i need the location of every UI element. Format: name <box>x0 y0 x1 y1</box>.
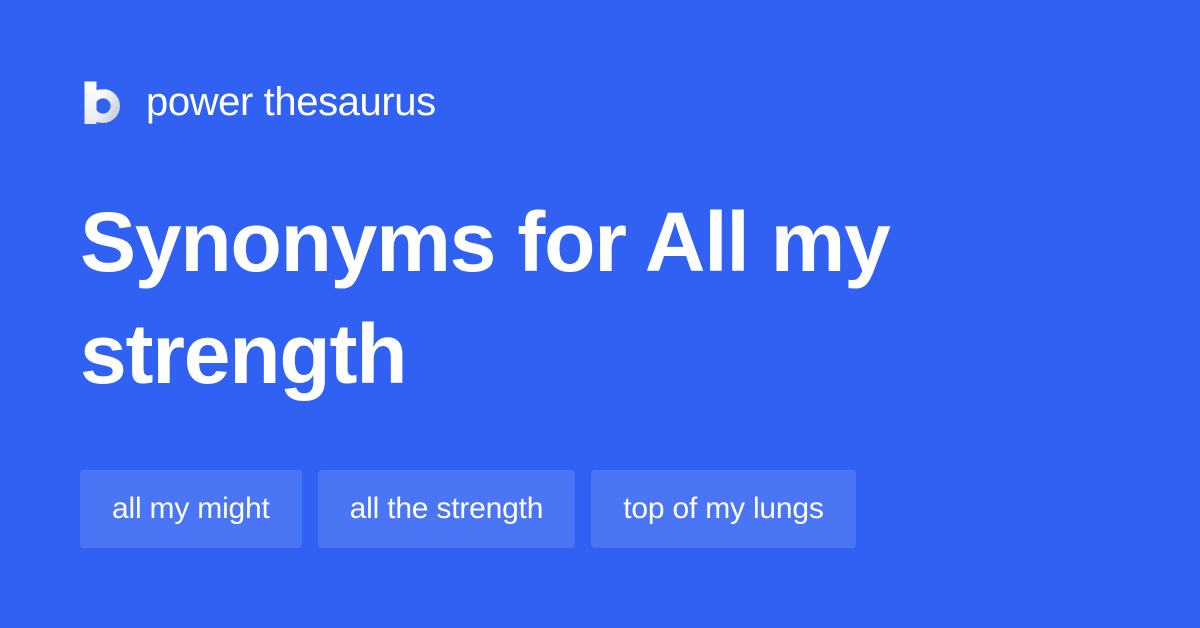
brand-name: power thesaurus <box>146 82 436 122</box>
brand-header[interactable]: power thesaurus <box>80 76 436 128</box>
synonym-chip-list: all my might all the strength top of my … <box>80 470 856 548</box>
page-title: Synonyms for All my strength <box>80 186 1040 410</box>
power-thesaurus-b-logo-icon <box>80 80 124 124</box>
synonym-chip[interactable]: top of my lungs <box>591 470 855 548</box>
synonym-chip[interactable]: all my might <box>80 470 302 548</box>
share-card: power thesaurus Synonyms for All my stre… <box>0 0 1200 628</box>
synonym-chip[interactable]: all the strength <box>318 470 576 548</box>
